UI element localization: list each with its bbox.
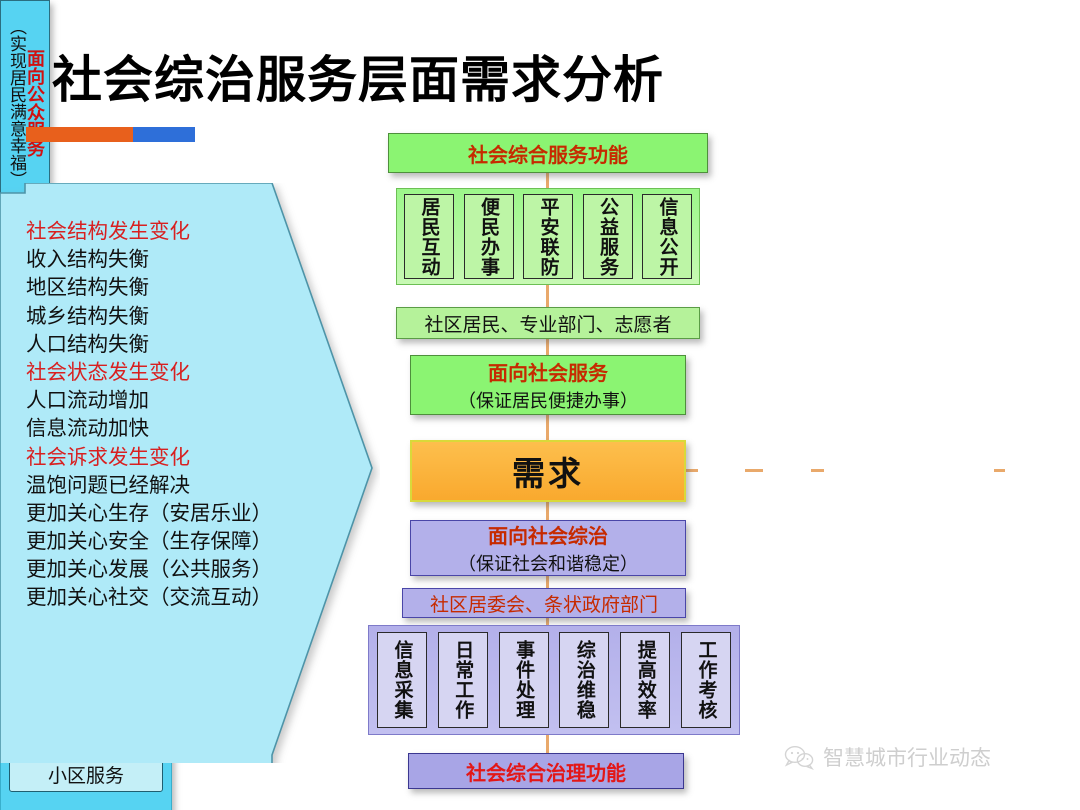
arrow-line: 社会结构发生变化: [26, 219, 286, 243]
governance-function-cell[interactable]: 日常工作: [438, 632, 488, 728]
arrow-line: 人口流动增加: [26, 388, 286, 412]
connector-vertical: [546, 339, 549, 356]
service-function-label: 公益服务: [598, 197, 617, 277]
facing-public-service: （实现居民满意幸福） 面向公众服务: [0, 0, 50, 205]
watermark-text: 智慧城市行业动态: [823, 742, 991, 772]
governance-function-label: 提高效率: [636, 640, 655, 720]
connector-vertical: [546, 735, 549, 754]
accent-bar-orange: [26, 127, 133, 142]
facing-public-service-sub: （实现居民满意幸福）: [7, 18, 24, 188]
service-function-label: 便民办事: [479, 197, 498, 277]
service-function-header: 社会综合服务功能: [388, 133, 708, 173]
facing-social-service-title: 面向社会服务: [488, 357, 608, 386]
arrow-line: 社会状态发生变化: [26, 360, 286, 384]
connector-vertical: [546, 285, 549, 308]
service-function-cell[interactable]: 便民办事: [464, 194, 514, 279]
facing-social-governance-sub: （保证社会和谐稳定）: [458, 550, 638, 576]
service-actors: 社区居民、专业部门、志愿者: [396, 307, 700, 339]
arrow-line: 地区结构失衡: [26, 275, 286, 299]
service-function-cell[interactable]: 平安联防: [523, 194, 573, 279]
arrow-line: 城乡结构失衡: [26, 304, 286, 328]
service-function-cell[interactable]: 公益服务: [583, 194, 633, 279]
arrow-line: 更加关心安全（生存保障）: [26, 529, 286, 553]
service-function-label: 居民互动: [420, 197, 439, 277]
facing-social-service-sub: （保证居民便捷办事）: [458, 387, 638, 413]
arrow-line: 收入结构失衡: [26, 247, 286, 271]
governance-function-cell[interactable]: 综治维稳: [559, 632, 609, 728]
demand-core: 需求: [410, 440, 686, 502]
governance-function-label: 日常工作: [453, 640, 472, 720]
governance-actors: 社区居委会、条状政府部门: [402, 588, 686, 618]
service-function-cell[interactable]: 信息公开: [642, 194, 692, 279]
connector-vertical: [546, 415, 549, 441]
governance-function-label: 信息采集: [393, 640, 412, 720]
service-function-label: 信息公开: [658, 197, 677, 277]
connector-horizontal: [811, 469, 824, 472]
connector-horizontal: [686, 469, 698, 472]
page-title: 社会综治服务层面需求分析: [52, 40, 664, 112]
service-function-label: 平安联防: [539, 197, 558, 277]
arrow-line: 温饱问题已经解决: [26, 473, 286, 497]
arrow-text-list: 社会结构发生变化 收入结构失衡 地区结构失衡 城乡结构失衡 人口结构失衡 社会状…: [26, 219, 286, 610]
facing-social-service: 面向社会服务 （保证居民便捷办事）: [410, 355, 686, 415]
facing-social-governance: 面向社会综治 （保证社会和谐稳定）: [410, 520, 686, 576]
governance-function-cell[interactable]: 事件处理: [499, 632, 549, 728]
governance-function-footer: 社会综合治理功能: [408, 753, 684, 789]
governance-function-cell[interactable]: 提高效率: [620, 632, 670, 728]
governance-function-cell[interactable]: 信息采集: [377, 632, 427, 728]
social-change-arrow: 社会结构发生变化 收入结构失衡 地区结构失衡 城乡结构失衡 人口结构失衡 社会状…: [0, 183, 380, 763]
arrow-line: 人口结构失衡: [26, 332, 286, 356]
wechat-icon: [784, 745, 814, 770]
service-function-group: 居民互动 便民办事 平安联防 公益服务 信息公开: [396, 188, 700, 285]
governance-function-label: 事件处理: [514, 640, 533, 720]
connector-horizontal: [745, 469, 763, 472]
governance-function-label: 综治维稳: [575, 640, 594, 720]
arrow-line: 更加关心发展（公共服务）: [26, 557, 286, 581]
watermark: 智慧城市行业动态: [784, 742, 991, 772]
governance-function-group: 信息采集 日常工作 事件处理 综治维稳 提高效率 工作考核: [368, 625, 740, 735]
connector-horizontal: [994, 469, 1005, 472]
facing-social-governance-title: 面向社会综治: [488, 520, 608, 549]
governance-function-label: 工作考核: [696, 640, 715, 720]
service-function-cell[interactable]: 居民互动: [404, 194, 454, 279]
slide-canvas: 社会综治服务层面需求分析 社会结构发生变化 收入结构失衡 地区结构失衡 城乡结构…: [0, 0, 1080, 810]
arrow-line: 社会诉求发生变化: [26, 445, 286, 469]
arrow-line: 信息流动加快: [26, 416, 286, 440]
connector-vertical: [546, 502, 549, 521]
accent-bar-blue: [133, 127, 195, 142]
arrow-line: 更加关心社交（交流互动）: [26, 585, 286, 609]
arrow-line: 更加关心生存（安居乐业）: [26, 501, 286, 525]
governance-function-cell[interactable]: 工作考核: [681, 632, 731, 728]
